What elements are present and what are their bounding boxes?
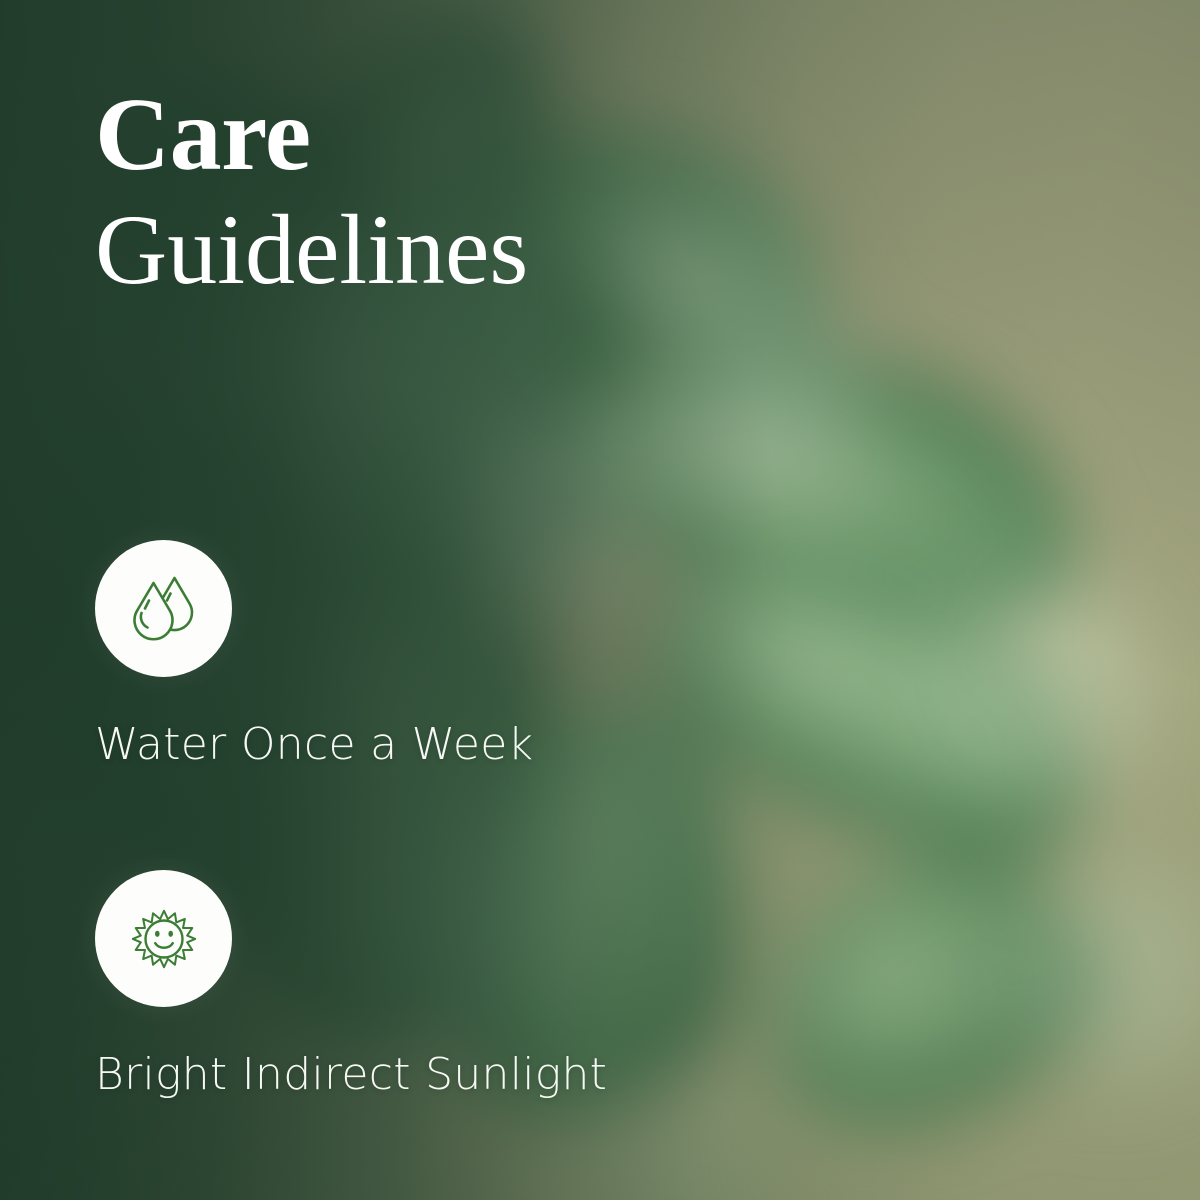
care-item-label: Water Once a Week	[95, 719, 533, 770]
care-icon-badge	[95, 540, 232, 677]
card-content: Care Guidelines	[0, 0, 1200, 1200]
title-line-care: Care	[95, 82, 528, 188]
care-icon-badge	[95, 870, 232, 1007]
page-title: Care Guidelines	[95, 82, 528, 306]
care-item-sunlight: Bright Indirect Sunlight	[95, 870, 607, 1100]
smiling-sun-icon	[127, 902, 201, 976]
plant-care-card: Care Guidelines	[0, 0, 1200, 1200]
care-item-label: Bright Indirect Sunlight	[95, 1049, 607, 1100]
care-item-water: Water Once a Week	[95, 540, 533, 770]
water-droplets-icon	[127, 572, 201, 646]
title-line-guidelines: Guidelines	[95, 194, 528, 306]
